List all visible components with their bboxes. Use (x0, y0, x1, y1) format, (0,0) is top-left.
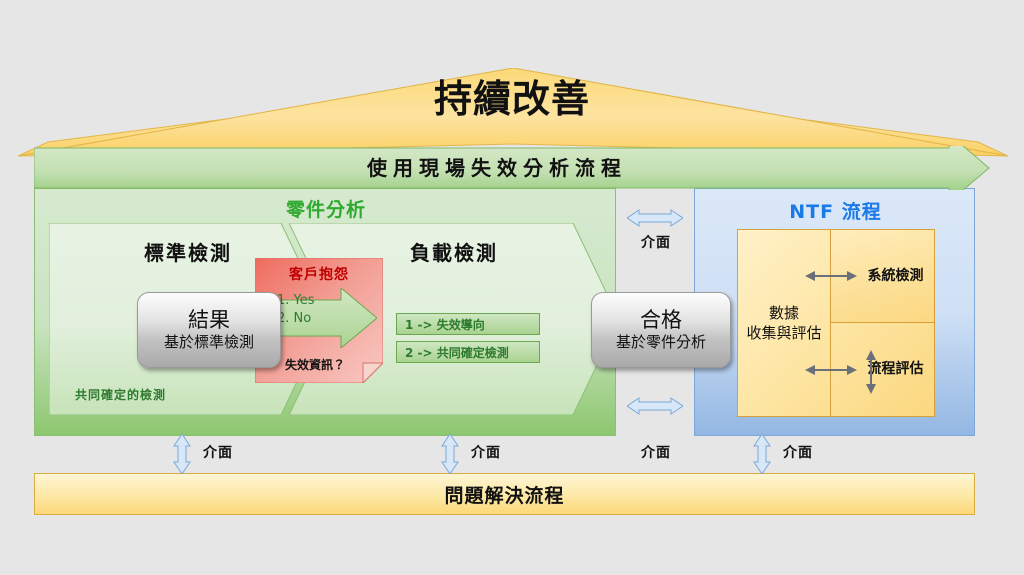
ntf-panel-title: NTF 流程 (695, 197, 976, 224)
yes-no-options: 1. Yes 2. No (277, 292, 315, 327)
iface-green-mid-arrow-icon (440, 434, 460, 474)
ntf-arrow-left-to-process-icon (805, 363, 857, 377)
result-chip-1: 1 -> 失效導向 (396, 313, 540, 335)
result-chip-2: 2 -> 共同確定檢測 (396, 341, 540, 363)
diagram-canvas: 持續改善 使用現場失效分析流程 零件分析 標準檢測 共同確定的檢測 (0, 0, 1024, 575)
iface-blue-label: 介面 (783, 442, 813, 462)
section-standard-test-footnote: 共同確定的檢測 (75, 386, 166, 403)
result-box-subtitle: 基於標準檢測 (164, 333, 254, 353)
iface-green-mid-label: 介面 (471, 442, 501, 462)
ntf-data-line2: 收集與評估 (746, 323, 821, 343)
ntf-cell-data-collection-label: 數據 收集與評估 (746, 303, 821, 344)
part-analysis-title: 零件分析 (35, 195, 617, 222)
complaint-title: 客戶抱怨 (255, 264, 383, 284)
iface-green-left-arrow-icon (172, 434, 192, 474)
ntf-panel: NTF 流程 數據 收集與評估 系統檢測 (694, 188, 975, 436)
option-no: 2. No (277, 310, 315, 328)
ntf-cell-process-eval: 流程評估 (831, 323, 934, 416)
problem-solving-bar: 問題解決流程 (34, 473, 975, 515)
ntf-arrow-left-to-system-icon (805, 269, 857, 283)
pass-box-subtitle: 基於零件分析 (616, 333, 706, 353)
iface-gap-bottom-label: 介面 (641, 442, 671, 462)
ntf-grid: 數據 收集與評估 系統檢測 (737, 229, 935, 417)
iface-gap-top-label: 介面 (641, 232, 671, 252)
ntf-cell-system-test: 系統檢測 (831, 230, 934, 323)
pass-box-title: 合格 (640, 307, 682, 333)
iface-gap-bottom-arrow-icon (627, 396, 683, 416)
iface-blue-arrow-icon (752, 434, 772, 474)
ntf-cell-data-collection: 數據 收集與評估 (738, 230, 831, 416)
result-box[interactable]: 結果 基於標準檢測 (137, 292, 281, 368)
ntf-data-line1: 數據 (746, 303, 821, 323)
result-box-title: 結果 (188, 307, 230, 333)
option-yes: 1. Yes (277, 292, 315, 310)
iface-gap-top-arrow-icon (627, 208, 683, 228)
pass-box[interactable]: 合格 基於零件分析 (591, 292, 731, 368)
problem-solving-bar-title: 問題解決流程 (444, 481, 564, 508)
iface-green-left-label: 介面 (203, 442, 233, 462)
roof-shape (18, 68, 1008, 158)
process-band-arrow (34, 146, 990, 190)
ntf-arrow-system-to-process-icon (864, 350, 878, 394)
